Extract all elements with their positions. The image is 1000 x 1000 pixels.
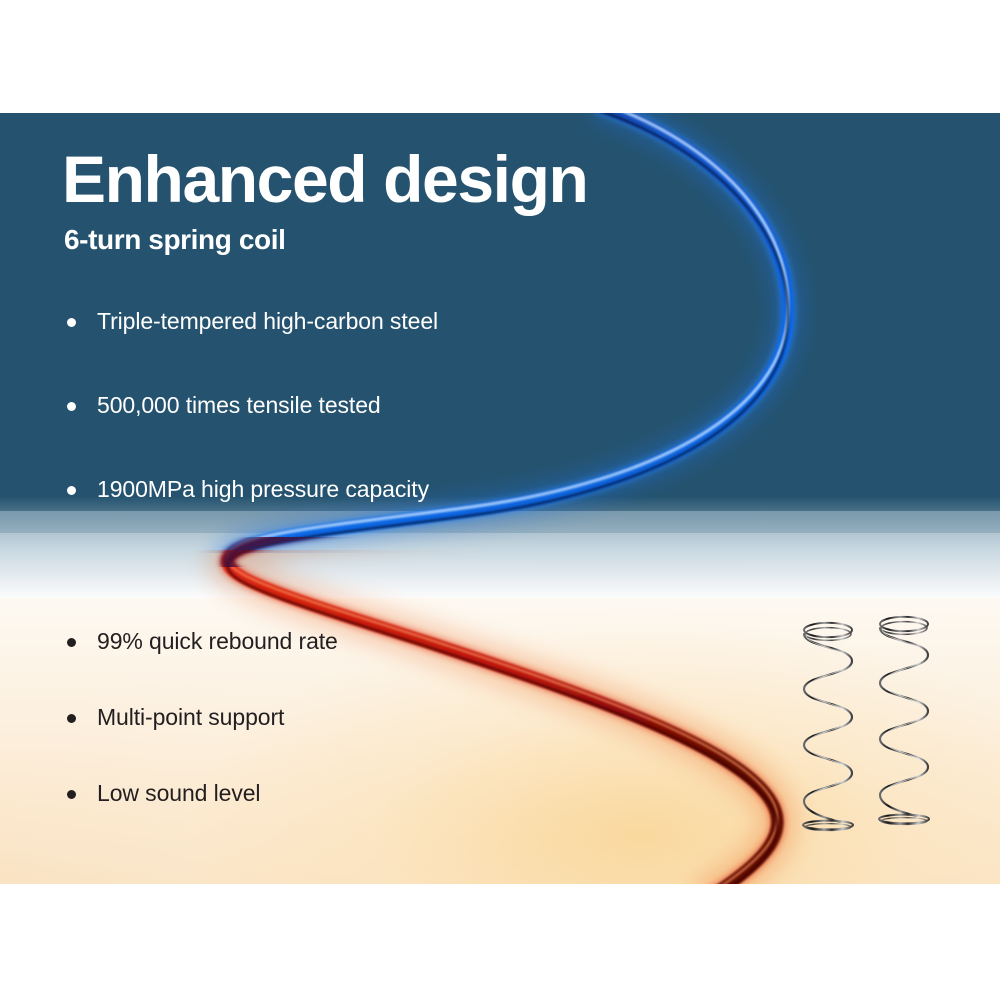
bullet-dot-icon (67, 790, 76, 799)
bullet-dot-icon (67, 638, 76, 647)
list-item-label: 99% quick rebound rate (97, 628, 338, 654)
bullet-dot-icon (67, 318, 76, 327)
bullet-dot-icon (67, 486, 76, 495)
page-title: Enhanced design (62, 146, 587, 212)
bullet-dot-icon (67, 402, 76, 411)
list-item: 1900MPa high pressure capacity (62, 478, 438, 501)
bullet-dot-icon (67, 714, 76, 723)
list-item-label: Low sound level (97, 780, 260, 806)
list-item-label: Multi-point support (97, 704, 284, 730)
list-item: Low sound level (62, 782, 338, 805)
coil-spring-pair (800, 615, 960, 840)
list-item: Triple-tempered high-carbon steel (62, 310, 438, 333)
list-item-label: Triple-tempered high-carbon steel (97, 308, 438, 334)
coil-spring-right (879, 617, 929, 825)
list-item-label: 500,000 times tensile tested (97, 392, 381, 418)
feature-list-lower: 99% quick rebound rate Multi-point suppo… (62, 630, 338, 858)
feature-list-upper: Triple-tempered high-carbon steel 500,00… (62, 310, 438, 562)
list-item-label: 1900MPa high pressure capacity (97, 476, 429, 502)
list-item: Multi-point support (62, 706, 338, 729)
page-subtitle: 6-turn spring coil (64, 226, 285, 254)
content-band: Enhanced design 6-turn spring coil Tripl… (0, 113, 1000, 884)
coil-spring-left (803, 623, 853, 831)
list-item: 99% quick rebound rate (62, 630, 338, 653)
infographic-canvas: Enhanced design 6-turn spring coil Tripl… (0, 0, 1000, 1000)
list-item: 500,000 times tensile tested (62, 394, 438, 417)
